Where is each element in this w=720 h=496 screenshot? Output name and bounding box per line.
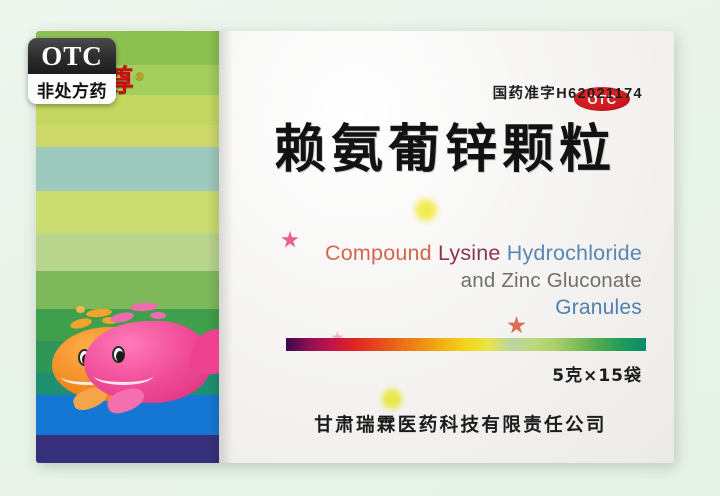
product-title-en-line3: Granules <box>325 294 642 322</box>
band-teal-pale <box>36 147 219 191</box>
manufacturer-name: 甘肃瑞霖医药科技有限责任公司 <box>219 411 674 437</box>
approval-number: 国药准字H62021174 <box>493 82 643 103</box>
otc-sticker-top-label: OTC <box>28 38 116 74</box>
product-title-cn: 赖氨葡锌颗粒 <box>274 107 616 182</box>
whale-pink-eye <box>112 346 125 363</box>
dosage-spec: 5克×15袋 <box>552 361 642 386</box>
band-indigo <box>36 435 219 463</box>
rainbow-rule <box>286 338 646 351</box>
band-olive <box>36 125 219 147</box>
otc-sticker-bottom-label: 非处方药 <box>28 74 116 104</box>
scene: OTC 国药准字H62021174 赖氨葡锌颗粒 Compound Lysine… <box>0 0 720 496</box>
carton-front-face: OTC 国药准字H62021174 赖氨葡锌颗粒 Compound Lysine… <box>219 31 674 463</box>
en-word: and Zinc Gluconate <box>461 269 642 292</box>
band-lime <box>36 191 219 233</box>
product-title-en: Compound Lysine Hydrochloride and Zinc G… <box>325 239 642 322</box>
star-pink-upper <box>281 231 299 249</box>
band-lightgreen <box>36 233 219 271</box>
product-title-en-line2: and Zinc Gluconate <box>325 267 642 294</box>
glow-dot-yellow-lower <box>382 389 402 409</box>
whale-pink-spout <box>110 301 168 325</box>
product-title-en-line1: Compound Lysine Hydrochloride <box>325 239 642 267</box>
en-word: Hydrochloride <box>507 241 642 265</box>
en-word: Granules <box>555 296 642 319</box>
en-word: Compound <box>325 241 438 265</box>
whale-pink <box>84 321 212 403</box>
otc-sticker: OTC 非处方药 <box>28 38 116 104</box>
glow-dot-yellow-upper <box>415 199 437 221</box>
registered-trademark-icon: ® <box>134 70 145 83</box>
en-word: Lysine <box>438 241 507 265</box>
whale-pink-mouth <box>94 367 153 385</box>
